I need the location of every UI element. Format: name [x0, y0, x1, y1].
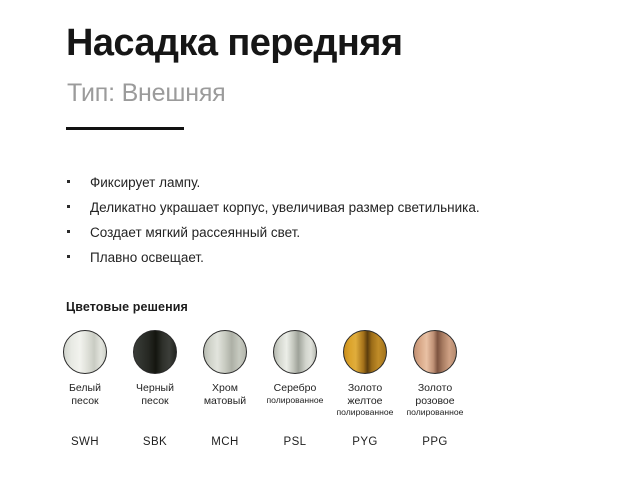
- swatch-label-line2: песок: [71, 395, 98, 407]
- swatch-label-line1: Белый: [69, 382, 101, 394]
- swatch-label: Золото розовое полированное: [400, 382, 470, 418]
- swatch-label-line3: полированное: [260, 395, 330, 406]
- swatch-circle-icon[interactable]: [413, 330, 457, 374]
- color-swatch-list: Белый песок SWH Черный песок SBK Хром ма…: [50, 330, 580, 470]
- swatch-label: Золото желтое полированное: [330, 382, 400, 418]
- feature-text: Создает мягкий рассеянный свет.: [90, 220, 300, 245]
- swatch-label: Черный песок: [120, 382, 190, 407]
- swatch-label-line2: песок: [141, 395, 168, 407]
- swatch-code: PPG: [400, 436, 470, 448]
- color-swatch-swh[interactable]: Белый песок SWH: [50, 330, 120, 407]
- swatch-label-line2: матовый: [204, 395, 246, 407]
- swatch-label-line1: Хром: [212, 382, 238, 394]
- list-item: Деликатно украшает корпус, увеличивая ра…: [66, 195, 596, 220]
- bullet-icon: [67, 255, 70, 258]
- page-title: Насадка передняя: [66, 21, 402, 65]
- swatch-label-line1: Золото: [418, 382, 452, 394]
- swatch-label-line1: Золото: [348, 382, 382, 394]
- page-subtitle: Тип: Внешняя: [67, 78, 226, 108]
- swatch-label: Хром матовый: [190, 382, 260, 407]
- swatch-code: PYG: [330, 436, 400, 448]
- swatch-label: Серебро полированное: [260, 382, 330, 406]
- list-item: Фиксирует лампу.: [66, 170, 596, 195]
- feature-text: Фиксирует лампу.: [90, 170, 200, 195]
- swatch-circle-icon[interactable]: [343, 330, 387, 374]
- color-swatch-psl[interactable]: Серебро полированное PSL: [260, 330, 330, 406]
- color-swatch-mch[interactable]: Хром матовый MCH: [190, 330, 260, 407]
- swatch-label-line1: Серебро: [274, 382, 317, 394]
- bullet-icon: [67, 180, 70, 183]
- swatch-label: Белый песок: [50, 382, 120, 407]
- swatch-label-line2: розовое: [415, 395, 454, 407]
- feature-text: Плавно освещает.: [90, 245, 204, 270]
- swatch-label-line3: полированное: [400, 407, 470, 418]
- swatch-code: PSL: [260, 436, 330, 448]
- bullet-icon: [67, 205, 70, 208]
- swatch-circle-icon[interactable]: [273, 330, 317, 374]
- swatch-code: SWH: [50, 436, 120, 448]
- swatch-code: MCH: [190, 436, 260, 448]
- list-item: Плавно освещает.: [66, 245, 596, 270]
- colors-section-heading: Цветовые решения: [66, 300, 188, 314]
- feature-list: Фиксирует лампу. Деликатно украшает корп…: [66, 170, 596, 270]
- swatch-code: SBK: [120, 436, 190, 448]
- list-item: Создает мягкий рассеянный свет.: [66, 220, 596, 245]
- swatch-circle-icon[interactable]: [203, 330, 247, 374]
- color-swatch-sbk[interactable]: Черный песок SBK: [120, 330, 190, 407]
- swatch-label-line3: полированное: [330, 407, 400, 418]
- product-spec-card: Насадка передняя Тип: Внешняя Фиксирует …: [0, 0, 630, 490]
- feature-text: Деликатно украшает корпус, увеличивая ра…: [90, 195, 480, 220]
- swatch-label-line1: Черный: [136, 382, 174, 394]
- swatch-circle-icon[interactable]: [63, 330, 107, 374]
- color-swatch-ppg[interactable]: Золото розовое полированное PPG: [400, 330, 470, 418]
- title-divider: [66, 127, 184, 130]
- color-swatch-pyg[interactable]: Золото желтое полированное PYG: [330, 330, 400, 418]
- swatch-label-line2: желтое: [347, 395, 382, 407]
- swatch-circle-icon[interactable]: [133, 330, 177, 374]
- bullet-icon: [67, 230, 70, 233]
